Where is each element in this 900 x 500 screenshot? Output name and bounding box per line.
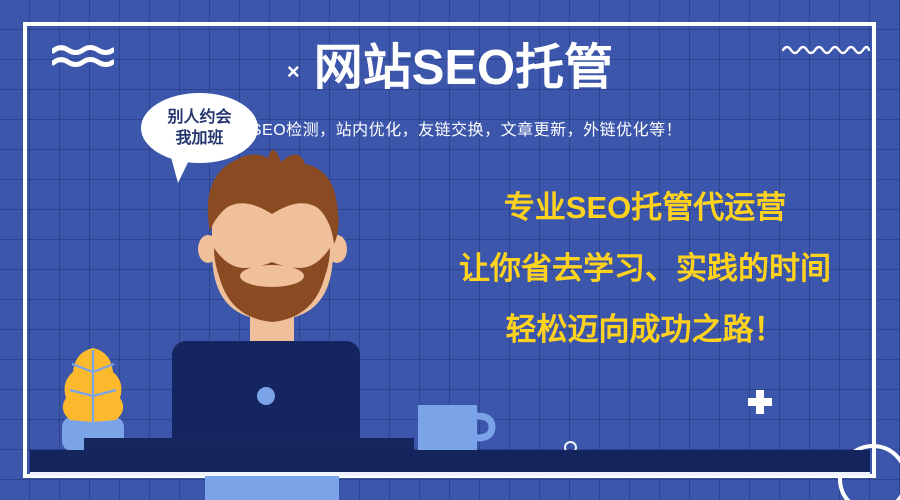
- desk-surface: [30, 450, 870, 472]
- seo-hosting-banner: ×网站SEO托管 含：SEO检测，站内优化，友链交换，文章更新，外链优化等！ 专…: [0, 0, 900, 500]
- desk-edge-highlight: [30, 472, 870, 476]
- speech-bubble-line-2: 我加班: [175, 128, 223, 149]
- man-with-beard-icon: [0, 0, 900, 500]
- speech-bubble: 别人约会 我加班: [141, 93, 258, 163]
- speech-bubble-line-1: 别人约会: [167, 107, 231, 128]
